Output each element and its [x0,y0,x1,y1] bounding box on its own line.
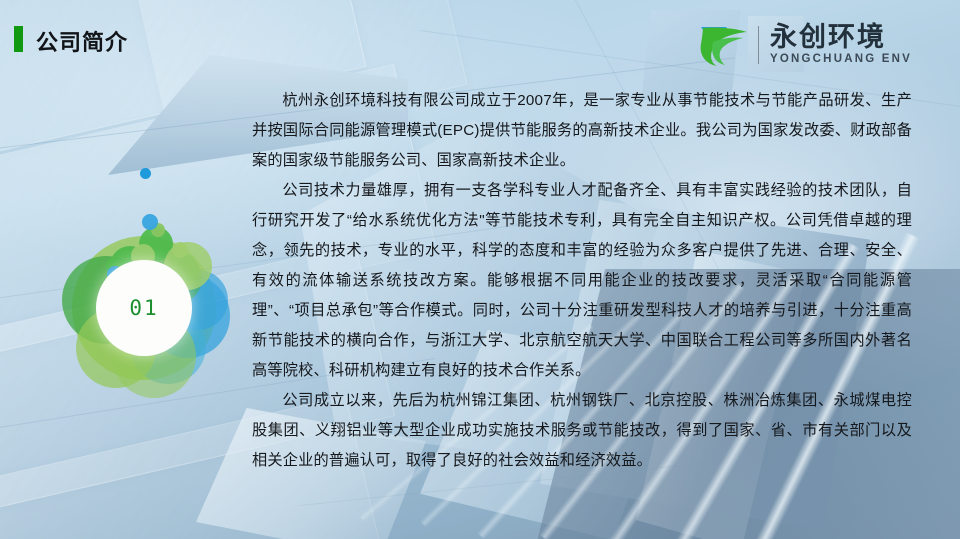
bg-blue-dot [140,168,151,179]
title-accent-bar [14,26,23,52]
section-number-badge: 01 [48,208,238,404]
body-text: 杭州永创环境科技有限公司成立于2007年，是一家专业从事节能技术与节能产品研发、… [252,86,912,476]
logo-name-cn: 永创环境 [770,23,912,51]
logo-divider [758,26,759,64]
badge-number: 01 [129,296,158,320]
slide: 公司简介 永创环境 YONGCHUANG ENV [0,0,960,539]
slide-header: 公司简介 永创环境 YONGCHUANG ENV [0,0,960,78]
paragraph-2: 公司技术力量雄厚，拥有一支各学科专业人才配备齐全、具有丰富实践经验的技术团队，自… [252,176,912,386]
logo-name-en: YONGCHUANG ENV [770,52,912,67]
company-logo: 永创环境 YONGCHUANG ENV [697,20,912,70]
yongchuang-swoosh-logo-icon [697,22,749,68]
page-title: 公司简介 [36,25,128,57]
logo-wordmark: 永创环境 YONGCHUANG ENV [770,23,912,66]
paragraph-3: 公司成立以来，先后为杭州锦江集团、杭州钢铁厂、北京控股、株洲冶炼集团、永城煤电控… [252,386,912,476]
badge-inner-circle: 01 [96,260,192,356]
paragraph-1: 杭州永创环境科技有限公司成立于2007年，是一家专业从事节能技术与节能产品研发、… [252,86,912,176]
